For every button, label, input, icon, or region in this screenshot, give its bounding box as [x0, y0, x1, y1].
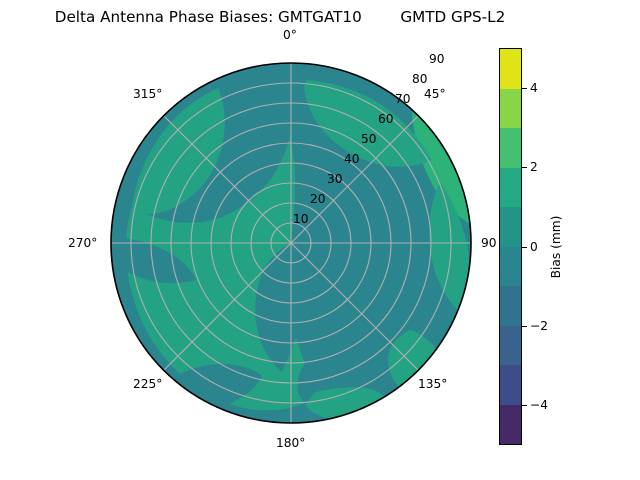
radial-tick-60: 60: [378, 113, 394, 125]
polar-skyplot-axes: 10 20 30 40 50 60 70 80 90: [110, 62, 472, 424]
angular-tick-90: 90: [481, 237, 497, 249]
angular-tick-270: 270°: [68, 237, 97, 249]
colorbar-band-8: [500, 89, 521, 129]
colorbar-axis-label: Bias (mm): [549, 216, 563, 279]
colorbar-band-1: [500, 365, 521, 405]
colorbar-ticklabel-0: 0: [530, 240, 538, 252]
colorbar: 4 2 0 −2 −4: [499, 48, 522, 445]
colorbar-band-3: [500, 286, 521, 326]
colorbar-ticklabel-4: 4: [530, 82, 538, 94]
colorbar-band-7: [500, 128, 521, 168]
colorbar-tick--2: [522, 326, 527, 327]
colorbar-ticklabel-2: 2: [530, 161, 538, 173]
colorbar-ticklabel--2: −2: [530, 320, 548, 332]
angular-tick-0: 0°: [283, 29, 297, 41]
radial-tick-20: 20: [310, 193, 326, 205]
colorbar-band-4: [500, 247, 521, 287]
polar-plot-svg: [110, 62, 472, 424]
colorbar-tick-4: [522, 88, 527, 89]
angular-tick-45: 45°: [424, 88, 446, 100]
colorbar-band-6: [500, 168, 521, 208]
figure-canvas: Delta Antenna Phase Biases: GMTGAT10 GMT…: [0, 0, 640, 480]
angular-tick-225: 225°: [133, 378, 162, 390]
angular-tick-180: 180°: [276, 437, 305, 449]
radial-tick-10: 10: [293, 213, 309, 225]
radial-tick-80: 80: [412, 73, 428, 85]
colorbar-tick-2: [522, 167, 527, 168]
radial-tick-40: 40: [344, 153, 360, 165]
radial-tick-50: 50: [361, 133, 377, 145]
radial-tick-30: 30: [327, 173, 343, 185]
colorbar-tick-0: [522, 247, 527, 248]
radial-tick-70: 70: [395, 93, 411, 105]
colorbar-gradient: [499, 48, 522, 445]
polar-grid: [111, 63, 471, 423]
colorbar-band-9: [500, 49, 521, 89]
colorbar-tick--4: [522, 405, 527, 406]
colorbar-band-2: [500, 326, 521, 366]
angular-tick-135: 135°: [418, 378, 447, 390]
colorbar-band-0: [500, 405, 521, 445]
angular-tick-315: 315°: [133, 88, 162, 100]
figure-title: Delta Antenna Phase Biases: GMTGAT10 GMT…: [0, 8, 560, 26]
colorbar-band-5: [500, 207, 521, 247]
colorbar-ticklabel--4: −4: [530, 399, 548, 411]
radial-tick-90: 90: [429, 53, 445, 65]
